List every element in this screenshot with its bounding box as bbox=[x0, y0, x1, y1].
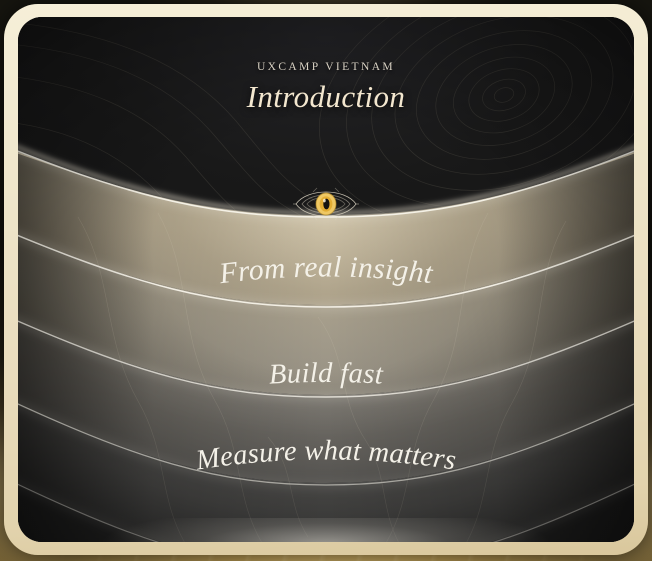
ring-label-1-text: From real insight bbox=[217, 251, 435, 290]
ring-label-1: From real insight bbox=[18, 233, 634, 353]
slide-root: UXCAMP VIETNAM Introduction bbox=[0, 0, 652, 561]
eye-icon bbox=[293, 183, 359, 225]
ring-label-2-text: Build fast bbox=[268, 358, 384, 391]
svg-text:Measure what matters: Measure what matters bbox=[193, 435, 458, 476]
ring-label-3: Measure what matters bbox=[18, 421, 634, 541]
page-title: Introduction bbox=[18, 79, 634, 115]
slide-eyebrow: UXCAMP VIETNAM bbox=[18, 61, 634, 73]
ring-label-3-text: Measure what matters bbox=[193, 435, 458, 476]
slide-card: UXCAMP VIETNAM Introduction bbox=[18, 17, 634, 542]
svg-text:From real insight: From real insight bbox=[217, 251, 435, 290]
ring-label-2: Build fast bbox=[18, 335, 634, 455]
slide-content: UXCAMP VIETNAM Introduction bbox=[18, 17, 634, 542]
svg-text:Build fast: Build fast bbox=[268, 358, 384, 391]
